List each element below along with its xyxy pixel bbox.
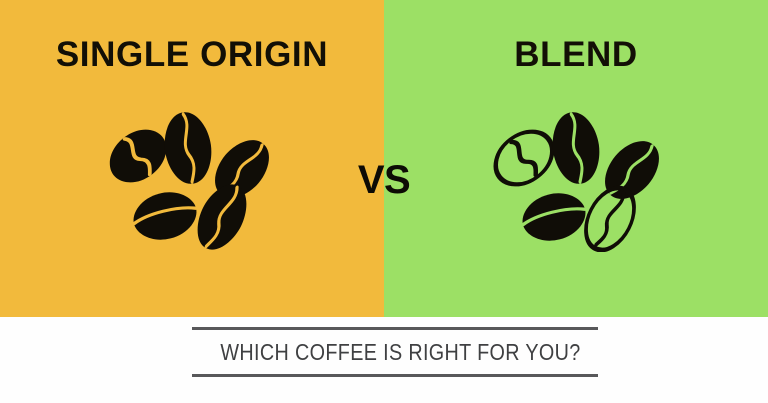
caption-block: WHICH COFFEE IS RIGHT FOR YOU? (192, 327, 598, 377)
versus-label: VS (334, 154, 434, 206)
caption-rule-bottom (192, 374, 598, 377)
coffee-beans-filled-icon (100, 112, 290, 252)
caption-text: WHICH COFFEE IS RIGHT FOR YOU? (220, 330, 569, 374)
coffee-beans-mixed-icon (486, 112, 676, 252)
coffee-comparison-poster: SINGLE ORIGIN BLEND (0, 0, 768, 403)
panel-title-single-origin: SINGLE ORIGIN (0, 33, 384, 77)
panel-title-blend: BLEND (384, 33, 768, 77)
